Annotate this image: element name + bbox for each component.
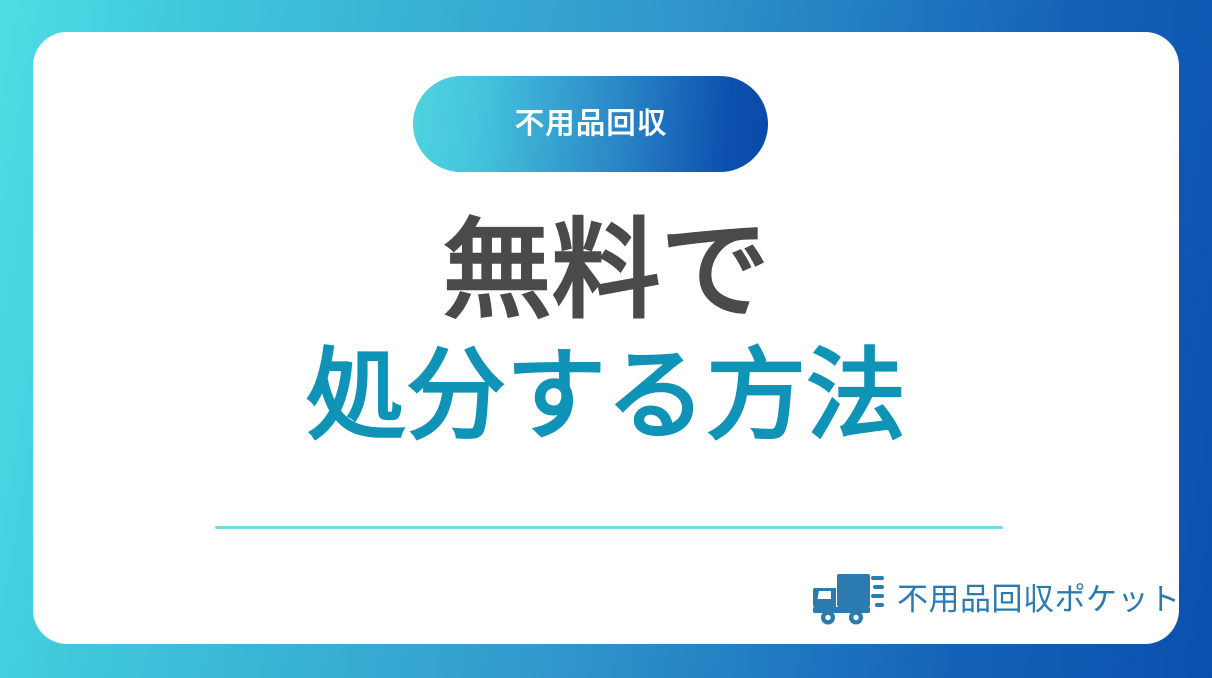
content-card: 不用品回収 無料で 処分する方法 (33, 32, 1179, 644)
delivery-truck-icon (811, 572, 885, 626)
brand-logo-text: 不用品回収ポケット (897, 584, 1179, 615)
headline-line-1: 無料で (33, 208, 1179, 334)
horizontal-divider (215, 526, 1003, 529)
category-badge: 不用品回収 (413, 76, 768, 172)
category-badge-label: 不用品回収 (513, 110, 667, 139)
thumbnail-banner: 不用品回収 無料で 処分する方法 (0, 0, 1212, 678)
headline-line-2: 処分する方法 (33, 338, 1179, 454)
headline-block: 無料で 処分する方法 (33, 208, 1179, 454)
brand-logo: 不用品回収ポケット (811, 572, 1179, 626)
